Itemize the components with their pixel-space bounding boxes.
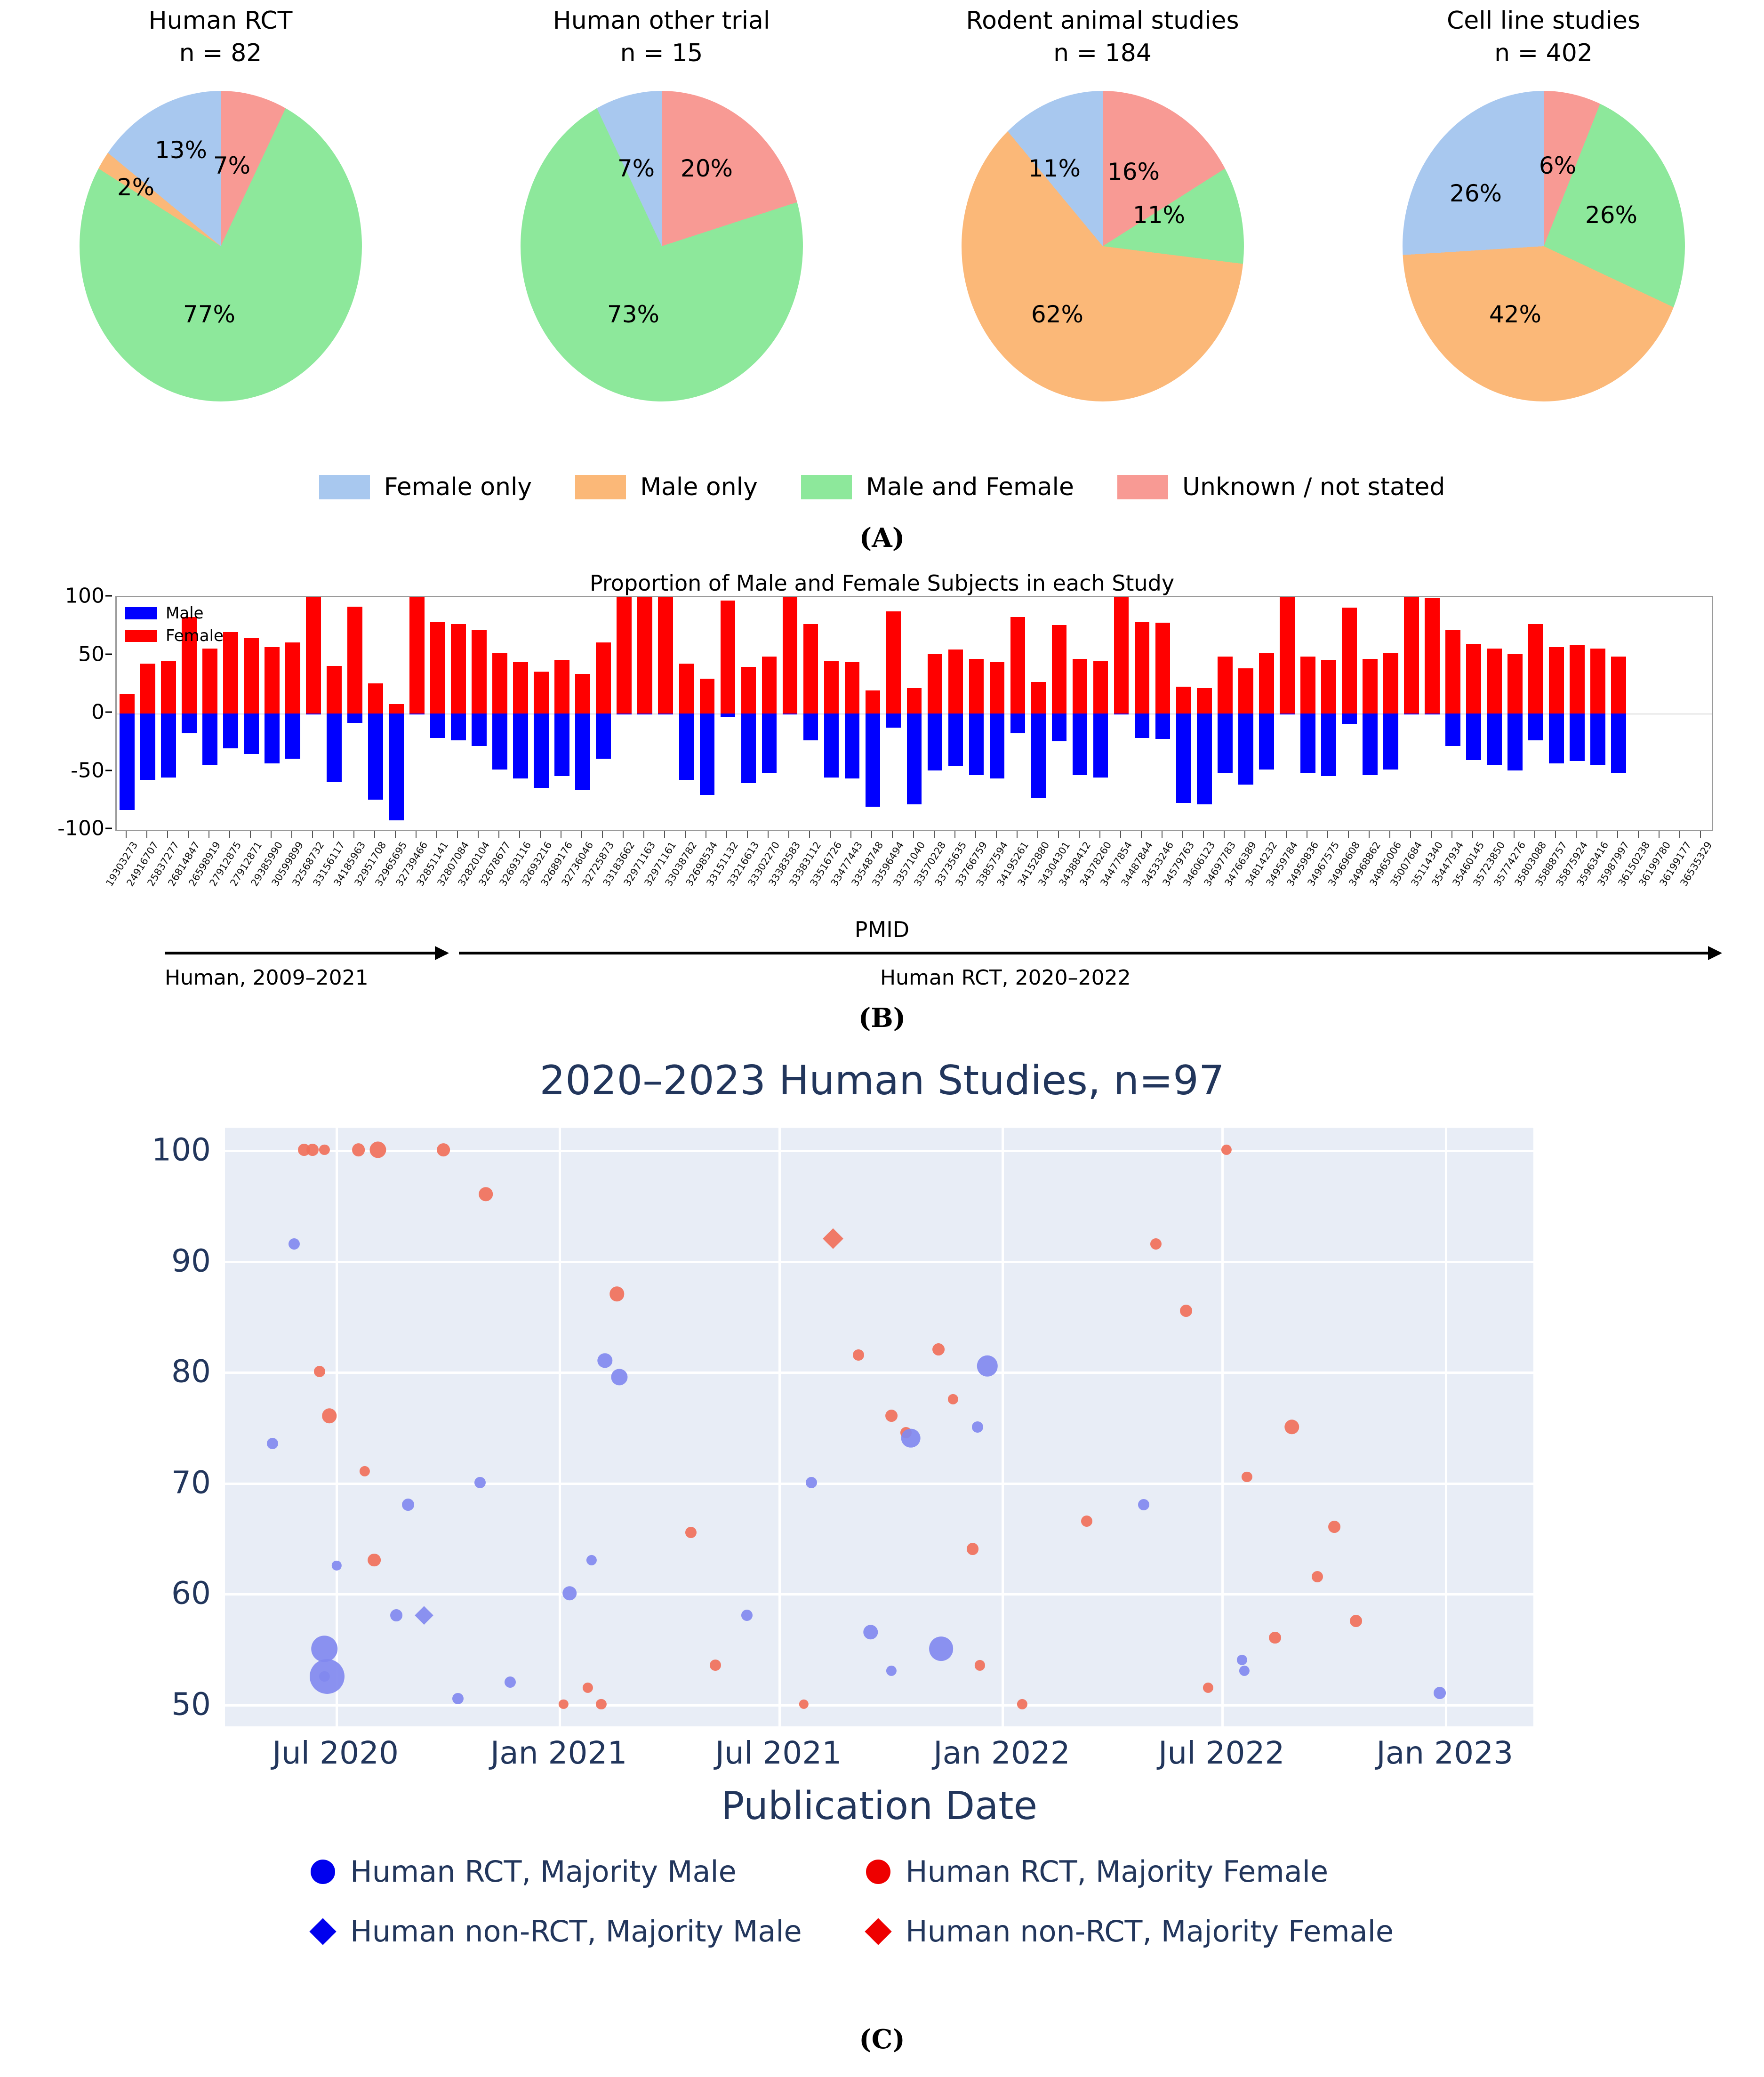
bar-female [679, 664, 694, 714]
x-tick [913, 831, 914, 838]
scatter-point-female [1328, 1521, 1340, 1533]
legend-swatch [1117, 475, 1168, 499]
x-tick [1017, 831, 1018, 838]
legend-row: Human non-RCT, Majority Male Human non-R… [311, 1914, 1440, 1974]
scatter-point-male [1237, 1655, 1247, 1665]
x-tick [208, 831, 209, 838]
x-tick [747, 831, 748, 838]
bar-female [866, 690, 881, 714]
bar-male [803, 714, 818, 740]
legend-item-human-non-rct-majority-female: Human non-RCT, Majority Female [866, 1914, 1421, 1949]
y-tick [105, 770, 112, 771]
panel-b-legend: Male Female [125, 604, 224, 645]
scatter-point-female [799, 1700, 809, 1709]
gridline-vertical [1002, 1128, 1004, 1726]
gridline-horizontal [225, 1593, 1533, 1596]
bar-female [1135, 622, 1150, 714]
scatter-point-female [1017, 1699, 1027, 1709]
scatter-point-male [452, 1693, 464, 1704]
bar-female [1507, 654, 1523, 714]
scatter-point-male [1434, 1687, 1446, 1699]
bar-female [1114, 597, 1129, 714]
bar-group [634, 597, 655, 830]
x-tick [1099, 831, 1100, 838]
x-tick [229, 831, 230, 838]
x-tick [333, 831, 334, 838]
x-tick [1265, 831, 1266, 838]
bar-group [697, 597, 717, 830]
legend-label: Male only [640, 473, 758, 501]
bar-female [948, 650, 963, 714]
bar-male [1052, 714, 1067, 741]
x-tick [436, 831, 437, 838]
bar-female [223, 632, 238, 714]
bar-group [489, 597, 510, 830]
scatter-point-female [314, 1366, 325, 1377]
bar-male [1073, 714, 1088, 775]
scatter-point-male [390, 1609, 402, 1621]
bar-female [161, 661, 176, 714]
bar-female [1155, 623, 1171, 714]
scatter-point-female [1312, 1571, 1323, 1582]
scatter-point-male [1239, 1666, 1250, 1676]
pie-slices [521, 91, 803, 401]
pie-slice-label: 11% [1028, 155, 1081, 182]
x-tick [1638, 831, 1639, 838]
bar-female [1466, 644, 1481, 714]
bar-group [800, 597, 821, 830]
bar-male [700, 714, 715, 795]
bar-group [862, 597, 883, 830]
x-tick [1307, 831, 1307, 838]
bar-group [1608, 597, 1629, 830]
bar-group [987, 597, 1008, 830]
bar-male [161, 714, 176, 778]
bar-male [1197, 714, 1212, 804]
scatter-point-female [1242, 1472, 1252, 1482]
bar-female [1590, 649, 1605, 714]
x-tick [1224, 831, 1225, 838]
bar-male [202, 714, 217, 765]
bar-male [554, 714, 569, 776]
bar-group [821, 597, 842, 830]
bar-group [1318, 597, 1339, 830]
legend-label: Human non-RCT, Majority Male [350, 1914, 802, 1949]
pie-slice-label: 2% [117, 174, 154, 201]
bar-male [534, 714, 549, 788]
bar-group [676, 597, 697, 830]
panel-c-scatter-plot: 2020–2023 Human Studies, n=97 % of Major… [0, 1035, 1764, 2077]
bar-male [347, 714, 362, 723]
scatter-point-female [1269, 1632, 1281, 1644]
x-tick [1079, 831, 1080, 838]
bar-male [1259, 714, 1274, 770]
pie-title: Human other trial n = 15 [441, 0, 882, 69]
x-tick [1348, 831, 1349, 838]
x-tick [581, 831, 582, 838]
scatter-point-male [863, 1625, 878, 1639]
bar-female [637, 597, 652, 714]
x-tick [623, 831, 624, 838]
bar-group [1215, 597, 1235, 830]
bar-male [389, 714, 404, 820]
bar-male [928, 714, 943, 770]
bar-male [1093, 714, 1108, 778]
bar-male [886, 714, 901, 728]
y-tick-label: -50 [71, 758, 104, 782]
x-tick-label: Jan 2022 [933, 1735, 1070, 1771]
pie-title: Cell line studies n = 402 [1323, 0, 1764, 69]
panel-b-x-tick-labels: 1930327324916707258372772681484726598919… [115, 840, 1713, 915]
bar-group [241, 597, 262, 830]
bar-female [1570, 645, 1585, 714]
bar-male [472, 714, 487, 746]
bar-male [1031, 714, 1046, 798]
bar-group [1235, 597, 1256, 830]
x-tick [996, 831, 997, 838]
bar-male [658, 714, 673, 714]
x-tick [1389, 831, 1390, 838]
bar-male [741, 714, 756, 783]
scatter-point-male [563, 1587, 577, 1601]
bar-male [1487, 714, 1502, 765]
x-tick [374, 831, 375, 838]
bar-group [282, 597, 303, 830]
x-tick [850, 831, 851, 838]
bar-group [1132, 597, 1153, 830]
scatter-point-female [319, 1145, 329, 1155]
bar-male [306, 714, 321, 714]
bar-group [946, 597, 966, 830]
bar-female [845, 662, 860, 714]
x-tick [395, 831, 396, 838]
x-tick [1451, 831, 1452, 838]
x-tick [353, 831, 354, 838]
bar-female [1238, 668, 1253, 714]
bar-male [1342, 714, 1357, 724]
x-tick [830, 831, 831, 838]
bar-group [365, 597, 386, 830]
y-tick [105, 712, 112, 713]
bar-male [451, 714, 466, 740]
scatter-point-female [685, 1527, 697, 1538]
bar-group [1173, 597, 1194, 830]
bar-group [1360, 597, 1380, 830]
bar-female [1031, 682, 1046, 714]
bar-female [1404, 597, 1419, 714]
bar-female [886, 611, 901, 714]
bar-female [721, 601, 736, 714]
bar-group [1256, 597, 1277, 830]
bar-male [1611, 714, 1626, 773]
x-tick [146, 831, 147, 838]
x-tick [498, 831, 499, 838]
panel-c-title: 2020–2023 Human Studies, n=97 [0, 1057, 1764, 1104]
scatter-point-female [1150, 1238, 1162, 1250]
y-tick-label: 60 [171, 1575, 211, 1612]
bar-group [386, 597, 407, 830]
bar-group [1650, 597, 1670, 830]
legend-item-male-only: Male only [575, 473, 758, 501]
bar-male [1590, 714, 1605, 765]
legend-swatch [801, 475, 852, 499]
bar-group [1401, 597, 1422, 830]
gridline-horizontal [225, 1371, 1533, 1374]
x-tick [1037, 831, 1038, 838]
bar-female [202, 649, 217, 714]
scatter-point-female [975, 1660, 985, 1670]
bar-female [472, 630, 487, 714]
pie-graphic: 16% 11% 62% 11% [962, 91, 1244, 401]
bar-male [575, 714, 590, 790]
gridline-vertical [559, 1128, 561, 1726]
pie-slice-label: 13% [155, 136, 207, 164]
bar-female [1197, 688, 1212, 714]
bar-group [303, 597, 324, 830]
x-tick [1555, 831, 1556, 838]
scatter-point-male [929, 1636, 954, 1661]
y-tick-label: 50 [78, 642, 104, 666]
panel-b-bar-chart: Proportion of Male and Female Subjects i… [0, 565, 1764, 1031]
bar-group [1153, 597, 1173, 830]
bar-female [575, 674, 590, 714]
bar-male [1135, 714, 1150, 738]
pie-slice-label: 7% [213, 152, 250, 179]
bar-female [1218, 657, 1233, 714]
bar-female [347, 607, 362, 714]
bar-male [120, 714, 135, 810]
bar-group [531, 597, 552, 830]
bar-group [655, 597, 676, 830]
panel-b-y-axis: 100500-50-100 [0, 596, 112, 831]
bar-group [883, 597, 904, 830]
x-tick [1410, 831, 1411, 838]
scatter-point-male [289, 1238, 300, 1250]
x-tick [1514, 831, 1515, 838]
gridline-horizontal [225, 1261, 1533, 1263]
x-tick [1431, 831, 1432, 838]
bar-female [1445, 630, 1460, 714]
bar-male [513, 714, 528, 778]
legend-label: Human non-RCT, Majority Female [906, 1914, 1394, 1949]
bar-male [1010, 714, 1026, 733]
gridline-horizontal [225, 1483, 1533, 1485]
pie-slice-label: 42% [1489, 301, 1541, 328]
x-tick [126, 831, 127, 838]
bar-group [262, 597, 282, 830]
scatter-point-female [853, 1349, 864, 1361]
bar-male [1445, 714, 1460, 746]
scatter-point-male [901, 1428, 921, 1448]
bar-group [966, 597, 987, 830]
x-tick [291, 831, 292, 838]
gridline-vertical [1221, 1128, 1224, 1726]
pie-slice-label: 6% [1539, 152, 1576, 179]
bar-male [679, 714, 694, 780]
pie-chart-cell-line-studies: Cell line studies n = 402 6% 26% 42% 26% [1323, 0, 1764, 401]
scatter-point-female [322, 1409, 337, 1423]
bar-female [1549, 647, 1564, 714]
x-tick [726, 831, 727, 838]
bar-group [1525, 597, 1546, 830]
x-tick [809, 831, 810, 838]
pie-slice-label: 77% [183, 301, 235, 328]
x-tick [1369, 831, 1370, 838]
legend-swatch [575, 475, 626, 499]
scatter-point-female [967, 1543, 979, 1555]
bar-male [1549, 714, 1564, 763]
x-tick [1596, 831, 1597, 838]
bar-female [513, 662, 528, 714]
bar-group [1070, 597, 1090, 830]
scatter-point-female [710, 1660, 721, 1671]
range-arrow-human-rct [459, 952, 1720, 954]
bar-female [969, 659, 984, 714]
x-tick [1576, 831, 1577, 838]
scatter-point-female [479, 1187, 493, 1202]
scatter-point-male [611, 1369, 628, 1385]
bar-group [614, 597, 634, 830]
x-tick [271, 831, 272, 838]
bar-group [1463, 597, 1484, 830]
pie-slice-label: 11% [1133, 201, 1185, 229]
scatter-point-female [1180, 1305, 1192, 1317]
scatter-point-male [1138, 1499, 1149, 1510]
bar-female [306, 597, 321, 714]
x-tick [768, 831, 769, 838]
x-tick [478, 831, 479, 838]
bar-female [1176, 687, 1191, 714]
gridline-vertical [778, 1128, 781, 1726]
x-tick [1182, 831, 1183, 838]
y-tick-label: 90 [171, 1243, 211, 1279]
bar-group [842, 597, 862, 830]
bar-female [368, 683, 383, 714]
y-tick [105, 828, 112, 829]
bar-group [904, 597, 924, 830]
x-tick [934, 831, 935, 838]
bar-group [448, 597, 469, 830]
scatter-point-male [806, 1477, 817, 1488]
legend-item-human-rct-majority-male: Human RCT, Majority Male [311, 1854, 866, 1889]
pie-title: Rodent animal studies n = 184 [882, 0, 1323, 69]
bar-male [617, 714, 632, 714]
scatter-point-male [332, 1561, 341, 1570]
y-tick-label: 0 [91, 700, 104, 724]
bar-male [1507, 714, 1523, 770]
pie-graphic: 20% 73% 7% [521, 91, 803, 401]
scatter-point-male [886, 1666, 897, 1676]
panel-label-c: (C) [0, 2024, 1764, 2055]
bar-female [1073, 659, 1088, 714]
panel-label-a: (A) [0, 522, 1764, 553]
legend-label: Human RCT, Majority Female [906, 1854, 1328, 1889]
bar-female [658, 597, 673, 714]
x-tick-label: Jul 2021 [715, 1735, 842, 1771]
bar-group [427, 597, 448, 830]
x-tick [188, 831, 189, 838]
panel-c-x-axis-label: Publication Date [225, 1784, 1533, 1828]
bar-female [617, 597, 632, 714]
scatter-point-female [369, 1142, 386, 1158]
pie-title: Human RCT n = 82 [0, 0, 441, 69]
x-tick [1058, 831, 1059, 838]
bar-group [324, 597, 345, 830]
scatter-point-female [1350, 1615, 1363, 1627]
range-arrow-human [165, 952, 447, 954]
bar-group [1380, 597, 1401, 830]
bar-group [1422, 597, 1443, 830]
scatter-point-male [586, 1555, 597, 1565]
bar-male [1280, 714, 1295, 714]
bar-female [120, 694, 135, 714]
legend-item-male-and-female: Male and Female [801, 473, 1074, 501]
bar-group [1111, 597, 1132, 830]
y-tick-label: 100 [152, 1132, 211, 1168]
bar-male [1300, 714, 1315, 773]
gridline-horizontal [225, 1704, 1533, 1707]
legend-label: Female [166, 626, 224, 645]
bar-group [925, 597, 946, 830]
legend-label: Male [166, 604, 204, 623]
bar-group [1194, 597, 1215, 830]
x-tick [1617, 831, 1618, 838]
bar-group [552, 597, 572, 830]
x-tick-label: Jan 2021 [490, 1735, 627, 1771]
panel-c-legend: Human RCT, Majority Male Human RCT, Majo… [311, 1854, 1440, 1974]
bar-group [1028, 597, 1049, 830]
bar-male [783, 714, 798, 714]
bar-male [409, 714, 425, 714]
scatter-point-male [402, 1499, 414, 1511]
bar-female [907, 688, 922, 714]
bar-male [1425, 714, 1440, 714]
scatter-point-female [823, 1228, 843, 1249]
bar-group [1670, 597, 1691, 830]
x-tick [1162, 831, 1163, 838]
y-tick-label: 70 [171, 1464, 211, 1500]
bar-female [1052, 625, 1067, 714]
bar-female [1342, 608, 1357, 714]
x-tick [975, 831, 976, 838]
panel-a-pie-charts: Human RCT n = 82 7% 77% 2% 13% Human oth… [0, 0, 1764, 555]
x-tick [167, 831, 168, 838]
bar-group [779, 597, 800, 830]
x-tick [954, 831, 955, 838]
legend-item-male: Male [125, 604, 224, 623]
bar-female [1363, 659, 1378, 714]
bar-group [1090, 597, 1111, 830]
bar-group [469, 597, 489, 830]
bar-male [845, 714, 860, 778]
panel-b-bars [117, 597, 1712, 830]
bar-male [907, 714, 922, 804]
bar-female [430, 622, 445, 714]
bar-male [637, 714, 652, 714]
bar-female [1487, 649, 1502, 714]
bar-male [1528, 714, 1543, 740]
bar-male [223, 714, 238, 748]
x-tick [788, 831, 789, 838]
scatter-point-female [1081, 1516, 1092, 1527]
x-tick [250, 831, 251, 838]
y-tick-label: 50 [171, 1686, 211, 1722]
scatter-point-female [559, 1700, 568, 1709]
bar-female [265, 647, 280, 714]
x-tick [643, 831, 644, 838]
bar-female [803, 624, 818, 714]
bar-group [1588, 597, 1608, 830]
